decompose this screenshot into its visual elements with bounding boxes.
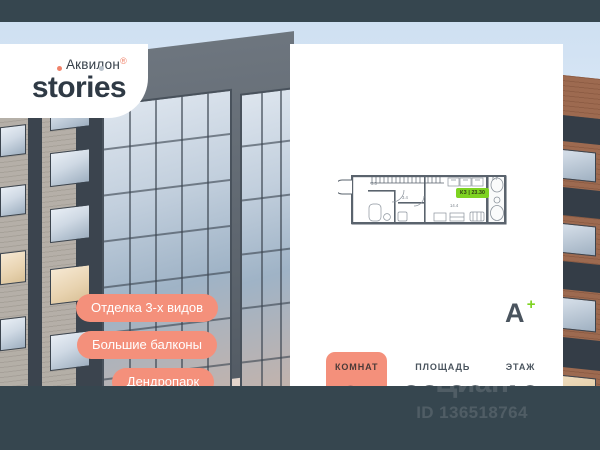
feature-pill-list: Отделка 3-х видов Большие балконы Дендро…	[0, 294, 288, 386]
stat-rooms: Комнат Ст	[326, 352, 387, 386]
aquilon-stories-logo: Аквилон® stories	[0, 44, 148, 118]
feature-pill[interactable]: Дендропарк	[112, 368, 214, 386]
energy-class-letter: A	[505, 298, 525, 328]
feature-pill[interactable]: Большие балконы	[77, 331, 217, 359]
logo-dot-grey-icon	[99, 66, 104, 71]
stat-area-label: Площадь	[401, 363, 484, 372]
apartment-info-panel: 5.5 3.4 14.4 0.7 КЗ | 23.30 A+ Комнат Ст	[290, 44, 563, 386]
stat-floor-label: Этаж	[502, 363, 539, 372]
logo-brand-name: Аквилон®	[66, 57, 126, 72]
energy-class-mark: A+	[505, 300, 525, 327]
feature-pill[interactable]: Отделка 3-х видов	[76, 294, 218, 322]
floor-plan-area-badge: КЗ | 23.30	[456, 188, 489, 198]
stat-rooms-value: Ст	[335, 381, 378, 386]
screenshot-root: Аквилон® stories Отделка 3-х видов Больш…	[0, 0, 600, 450]
listing-photo[interactable]: Аквилон® stories Отделка 3-х видов Больш…	[0, 22, 600, 386]
stat-area-value: 23.30	[401, 381, 484, 386]
svg-text:14.4: 14.4	[450, 203, 459, 208]
stat-floor-value: 10	[502, 381, 539, 386]
stat-area: Площадь 23.30	[401, 352, 484, 386]
floor-plan[interactable]: 5.5 3.4 14.4 0.7 КЗ | 23.30	[338, 166, 518, 234]
logo-wordmark: stories	[32, 73, 126, 103]
logo-dot-orange-icon	[57, 66, 62, 71]
stat-floor: Этаж 10	[502, 352, 539, 386]
logo-brand-text: Аквилон	[66, 57, 120, 72]
stat-rooms-label: Комнат	[335, 363, 378, 372]
svg-text:5.5: 5.5	[371, 181, 377, 186]
watermark-listing-id: ID 136518764	[352, 404, 592, 421]
apartment-stats: Комнат Ст Площадь 23.30 Этаж 10	[290, 352, 563, 386]
svg-text:3.4: 3.4	[402, 195, 408, 200]
trademark-icon: ®	[120, 56, 127, 66]
svg-text:0.7: 0.7	[492, 176, 498, 181]
logo-wordmark-text: stories	[32, 71, 126, 104]
energy-class-plus-icon: +	[527, 297, 536, 312]
